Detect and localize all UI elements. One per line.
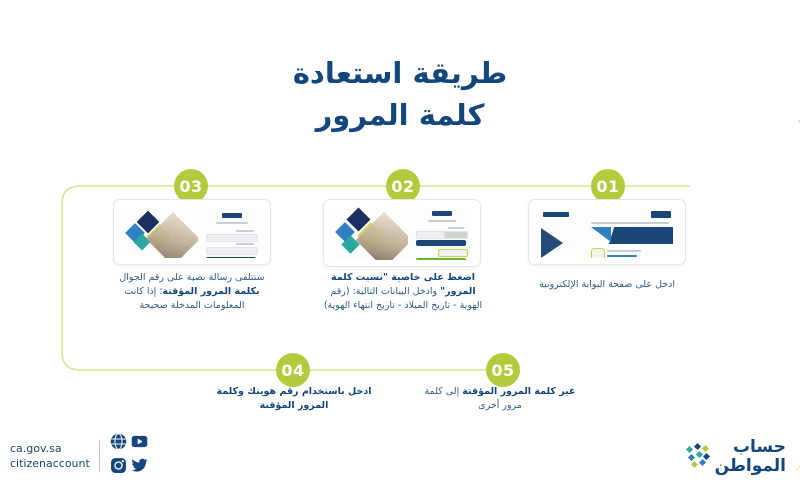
step-01-description: ادخل على صفحة البوابة الإلكترونية <box>523 278 691 292</box>
step-03-description: ستتلقى رسالة نصية على رقم الجوال بكلمة ا… <box>106 271 278 313</box>
social-icons-grid <box>109 433 148 478</box>
step-badge-04-label: 04 <box>281 361 304 380</box>
footer-handle[interactable]: citizenaccount <box>10 456 90 471</box>
step-badge-04: 04 <box>276 353 310 387</box>
logo-dot <box>703 453 710 460</box>
citizen-account-logo-mark <box>685 444 711 470</box>
logo-text: حساب المواطن <box>715 438 786 476</box>
login-page-screenshot <box>120 206 264 258</box>
screenshot-form-area <box>198 206 264 258</box>
footer-divider <box>99 441 100 471</box>
screenshot-primary-button <box>416 240 466 246</box>
screenshot-forgot-password-link <box>416 258 466 260</box>
screenshot-logo <box>432 211 452 216</box>
screenshot-submit-button <box>206 257 256 258</box>
screenshot-nav-pill <box>543 212 569 217</box>
screenshot-app-subtitle <box>607 255 637 257</box>
youtube-icon[interactable] <box>130 433 148 454</box>
logo-dot <box>699 459 706 466</box>
footer-website[interactable]: ca.gov.sa <box>10 441 90 456</box>
screenshot-app-title <box>607 250 641 252</box>
footer-social: ca.gov.sa citizenaccount <box>10 433 148 478</box>
screenshot-field-label-1 <box>236 230 254 232</box>
logo-dot <box>696 451 703 458</box>
logo-dot <box>691 461 698 468</box>
screenshot-nav-links <box>591 222 669 224</box>
screenshot-hero-banner <box>609 227 673 244</box>
footer-links: ca.gov.sa citizenaccount <box>10 441 90 471</box>
logo-dot <box>702 445 709 452</box>
screenshot-form-area <box>408 206 474 260</box>
screenshot-hero-arrow <box>541 228 563 258</box>
screenshot-field-label-1 <box>448 227 464 229</box>
screenshot-hero-art <box>120 206 198 258</box>
logo-text-line-2: المواطن <box>715 457 786 476</box>
step-05-description: غير كلمة المرور المؤقتة إلى كلمة مرور أخ… <box>414 385 586 413</box>
screenshot-hero-art <box>330 206 408 260</box>
logo-dot <box>686 446 693 453</box>
screenshot-captcha <box>444 231 468 239</box>
portal-home-screenshot <box>535 206 679 258</box>
citizen-account-logo: حساب المواطن <box>685 438 786 476</box>
step-02-screenshot-card[interactable] <box>323 199 481 267</box>
screenshot-subtitle <box>428 220 456 222</box>
twitter-icon[interactable] <box>130 457 148 478</box>
step-badge-02: 02 <box>386 169 420 203</box>
instagram-icon[interactable] <box>109 457 127 478</box>
screenshot-highlight-field <box>438 249 468 257</box>
step-04-description: ادخل باستخدام رقم هويتك وكلمة المرور الم… <box>208 385 380 413</box>
step-badge-01-label: 01 <box>596 177 619 196</box>
screenshot-input-1 <box>206 234 258 242</box>
globe-icon[interactable] <box>109 433 127 454</box>
step-02-description: اضغط على خاصية "نسيت كلمة المرور" وادخل … <box>318 271 488 313</box>
step-badge-02-label: 02 <box>391 177 414 196</box>
step-01-screenshot-card[interactable] <box>528 199 686 265</box>
screenshot-input-2 <box>206 247 258 255</box>
step-badge-05: 05 <box>486 353 520 387</box>
screenshot-logo <box>651 211 671 218</box>
step-badge-01: 01 <box>591 169 625 203</box>
forgot-password-form-screenshot <box>330 206 474 260</box>
step-badge-03: 03 <box>174 169 208 203</box>
infographic-canvas: طريقة استعادة كلمة المرور 03 02 01 04 05 <box>0 0 800 500</box>
screenshot-logo <box>222 213 242 218</box>
step-03-screenshot-card[interactable] <box>113 199 271 265</box>
screenshot-hero-triangle-cyan <box>591 227 611 242</box>
step-badge-03-label: 03 <box>179 177 202 196</box>
logo-dot <box>694 443 701 450</box>
screenshot-subtitle <box>216 222 248 224</box>
logo-text-line-1: حساب <box>715 438 786 457</box>
screenshot-app-phone <box>591 248 605 258</box>
step-badge-05-label: 05 <box>491 361 514 380</box>
screenshot-field-label-2 <box>236 243 254 245</box>
